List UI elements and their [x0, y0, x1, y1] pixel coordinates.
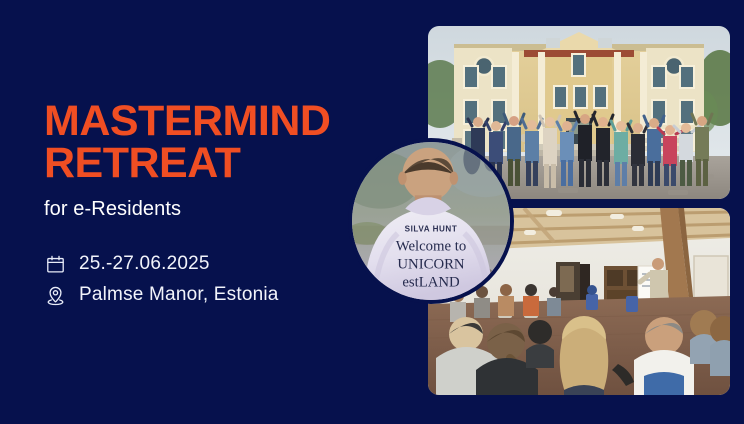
event-banner: MASTERMIND RETREAT for e-Residents 25.-2… [0, 0, 744, 424]
headline-line-1: MASTERMIND [44, 97, 330, 145]
svg-text:UNICORN: UNICORN [397, 257, 465, 273]
detail-row-date: 25.-27.06.2025 [44, 253, 374, 275]
text-column: MASTERMIND RETREAT for e-Residents 25.-2… [44, 100, 374, 315]
svg-text:SILVA HUNT: SILVA HUNT [405, 224, 458, 233]
svg-text:estLAND: estLAND [402, 275, 460, 291]
calendar-icon [44, 253, 66, 275]
subtitle: for e-Residents [44, 198, 374, 221]
circle-photo-shirt: SILVA HUNT Welcome to UNICORN estLAND [348, 138, 514, 304]
event-location: Palmse Manor, Estonia [79, 284, 279, 306]
event-details: 25.-27.06.2025 Palmse Manor, Estonia [44, 253, 374, 306]
svg-text:Welcome to: Welcome to [396, 239, 467, 255]
detail-row-location: Palmse Manor, Estonia [44, 284, 374, 306]
event-date: 25.-27.06.2025 [79, 253, 210, 275]
location-pin-icon [44, 284, 66, 306]
page-title: MASTERMIND RETREAT [44, 100, 374, 184]
headline-line-2: RETREAT [44, 142, 374, 184]
